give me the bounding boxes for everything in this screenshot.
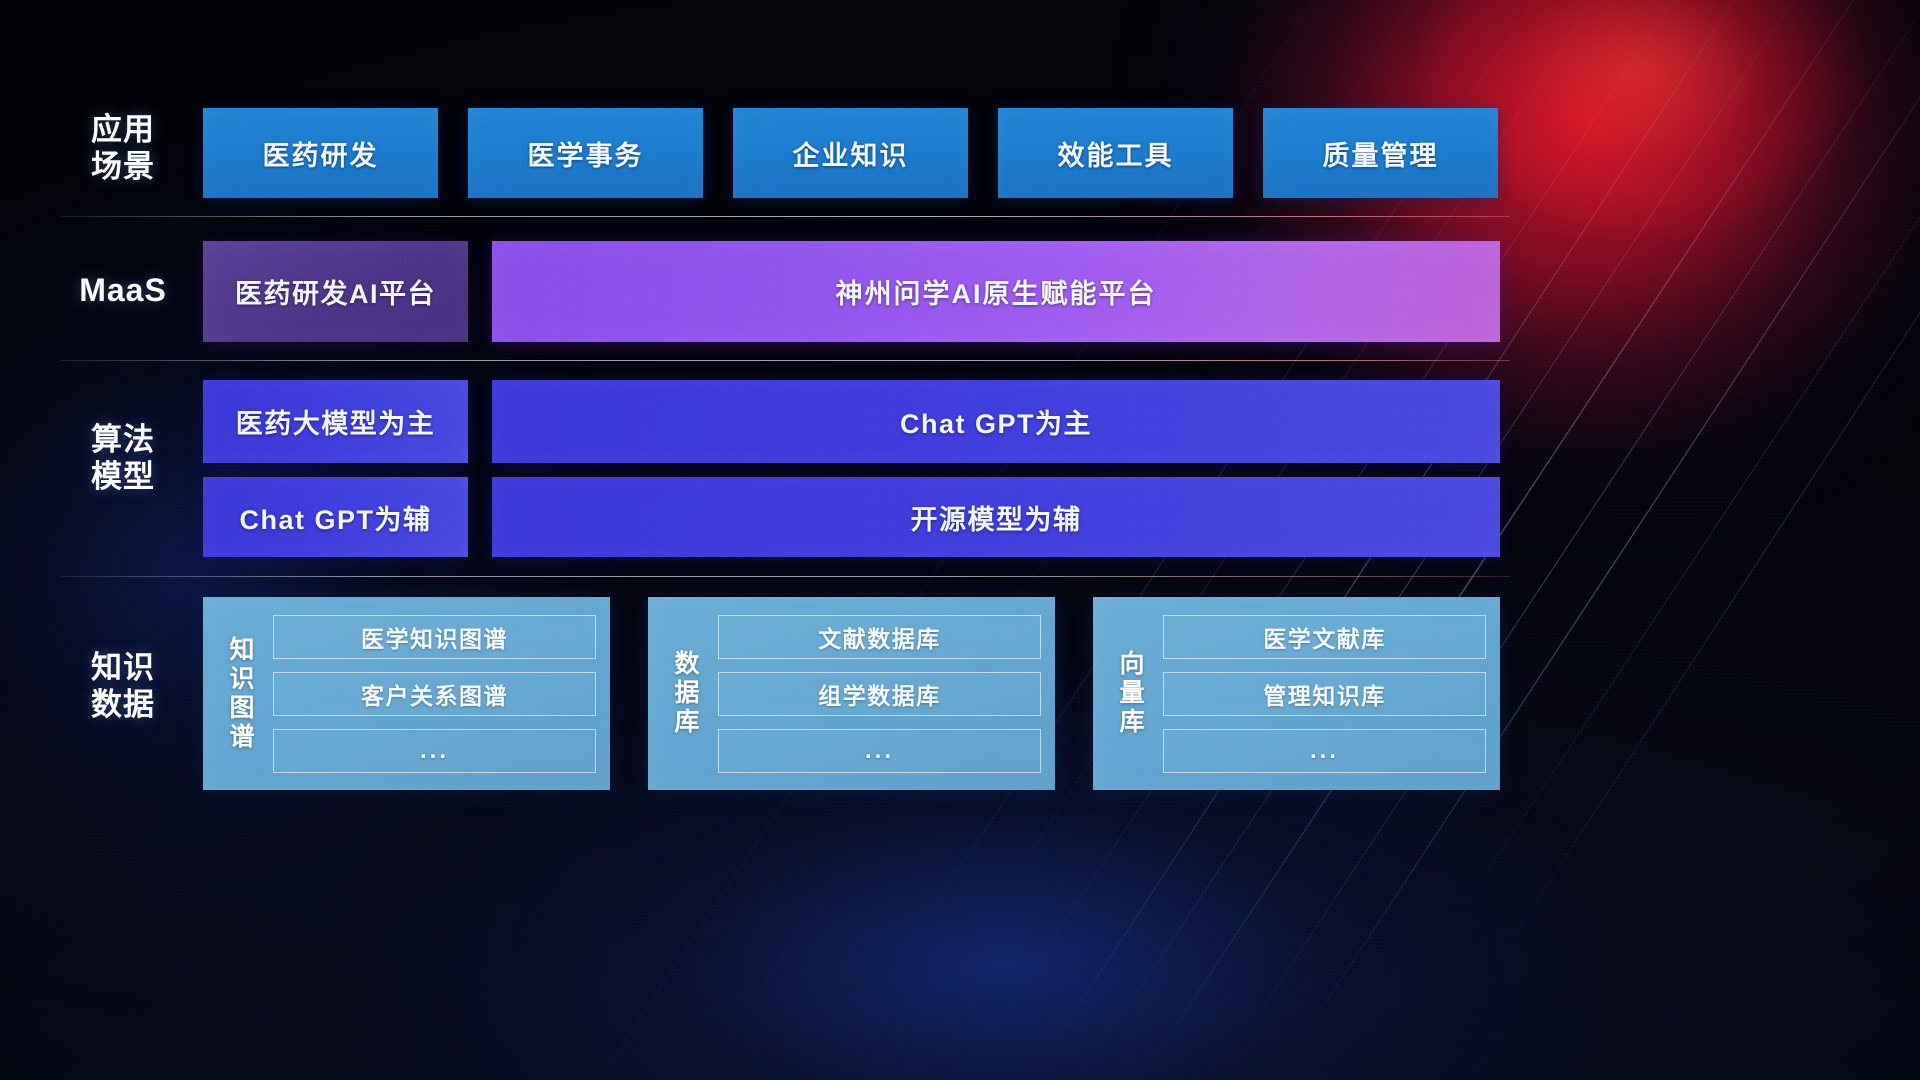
architecture-diagram: 应用 场景 医药研发 医学事务 企业知识 效能工具 质量管理 MaaS 医药研发… [0,0,1920,1080]
app-card-5[interactable]: 质量管理 [1263,108,1498,198]
knowledge-panel-label: 知 识 图 谱 [211,609,273,778]
row-label-application: 应用 场景 [62,112,184,185]
divider-maas-algorithm [60,360,1510,361]
knowledge-item[interactable]: 文献数据库 [718,615,1041,659]
app-card-label: 企业知识 [793,134,909,173]
app-card-3[interactable]: 企业知识 [733,108,968,198]
algo-card-label: 医药大模型为主 [236,402,436,441]
row-label-knowledge: 知识 数据 [62,650,184,723]
app-card-1[interactable]: 医药研发 [203,108,438,198]
app-card-label: 医学事务 [528,134,644,173]
maas-card-label: 神州问学AI原生赋能平台 [836,272,1157,311]
app-card-4[interactable]: 效能工具 [998,108,1233,198]
knowledge-panel-items: 文献数据库 组学数据库 ... [718,609,1041,778]
knowledge-item-label: 管理知识库 [1263,677,1386,711]
algo-card-left-primary[interactable]: 医药大模型为主 [203,380,468,463]
app-card-label: 效能工具 [1058,134,1174,173]
knowledge-panel-database[interactable]: 数 据 库 文献数据库 组学数据库 ... [648,597,1055,790]
knowledge-item-label: 文献数据库 [818,620,941,654]
app-card-label: 质量管理 [1323,134,1439,173]
knowledge-item[interactable]: 医学文献库 [1163,615,1486,659]
algo-card-right-primary[interactable]: Chat GPT为主 [492,380,1500,463]
knowledge-item-more[interactable]: ... [273,729,596,773]
app-card-2[interactable]: 医学事务 [468,108,703,198]
knowledge-panel-items: 医学文献库 管理知识库 ... [1163,609,1486,778]
knowledge-panel-vector[interactable]: 向 量 库 医学文献库 管理知识库 ... [1093,597,1500,790]
app-card-label: 医药研发 [263,134,379,173]
knowledge-item[interactable]: 管理知识库 [1163,672,1486,716]
knowledge-item-label: 组学数据库 [818,677,941,711]
row-label-maas: MaaS [62,272,184,310]
knowledge-panel-graph[interactable]: 知 识 图 谱 医学知识图谱 客户关系图谱 ... [203,597,610,790]
maas-card-shenzhou-platform[interactable]: 神州问学AI原生赋能平台 [492,241,1500,342]
knowledge-item-label: ... [865,737,894,765]
knowledge-item-label: 客户关系图谱 [361,677,508,711]
algo-card-label: Chat GPT为主 [900,402,1092,441]
algo-card-label: 开源模型为辅 [911,498,1082,537]
knowledge-item-label: ... [1310,737,1339,765]
knowledge-item[interactable]: 客户关系图谱 [273,672,596,716]
row-label-algorithm: 算法 模型 [62,422,184,495]
knowledge-panel-label: 数 据 库 [656,609,718,778]
algo-card-left-secondary[interactable]: Chat GPT为辅 [203,477,468,557]
knowledge-item[interactable]: 医学知识图谱 [273,615,596,659]
knowledge-item[interactable]: 组学数据库 [718,672,1041,716]
maas-card-label: 医药研发AI平台 [235,272,436,311]
knowledge-item-label: ... [420,737,449,765]
knowledge-item-label: 医学文献库 [1263,620,1386,654]
knowledge-panel-items: 医学知识图谱 客户关系图谱 ... [273,609,596,778]
knowledge-item-more[interactable]: ... [718,729,1041,773]
divider-application-maas [60,216,1510,217]
knowledge-item-more[interactable]: ... [1163,729,1486,773]
knowledge-panel-label: 向 量 库 [1101,609,1163,778]
knowledge-item-label: 医学知识图谱 [361,620,508,654]
divider-algorithm-knowledge [60,576,1510,577]
algo-card-right-secondary[interactable]: 开源模型为辅 [492,477,1500,557]
maas-card-medical-ai-platform[interactable]: 医药研发AI平台 [203,241,468,342]
algo-card-label: Chat GPT为辅 [239,498,431,537]
